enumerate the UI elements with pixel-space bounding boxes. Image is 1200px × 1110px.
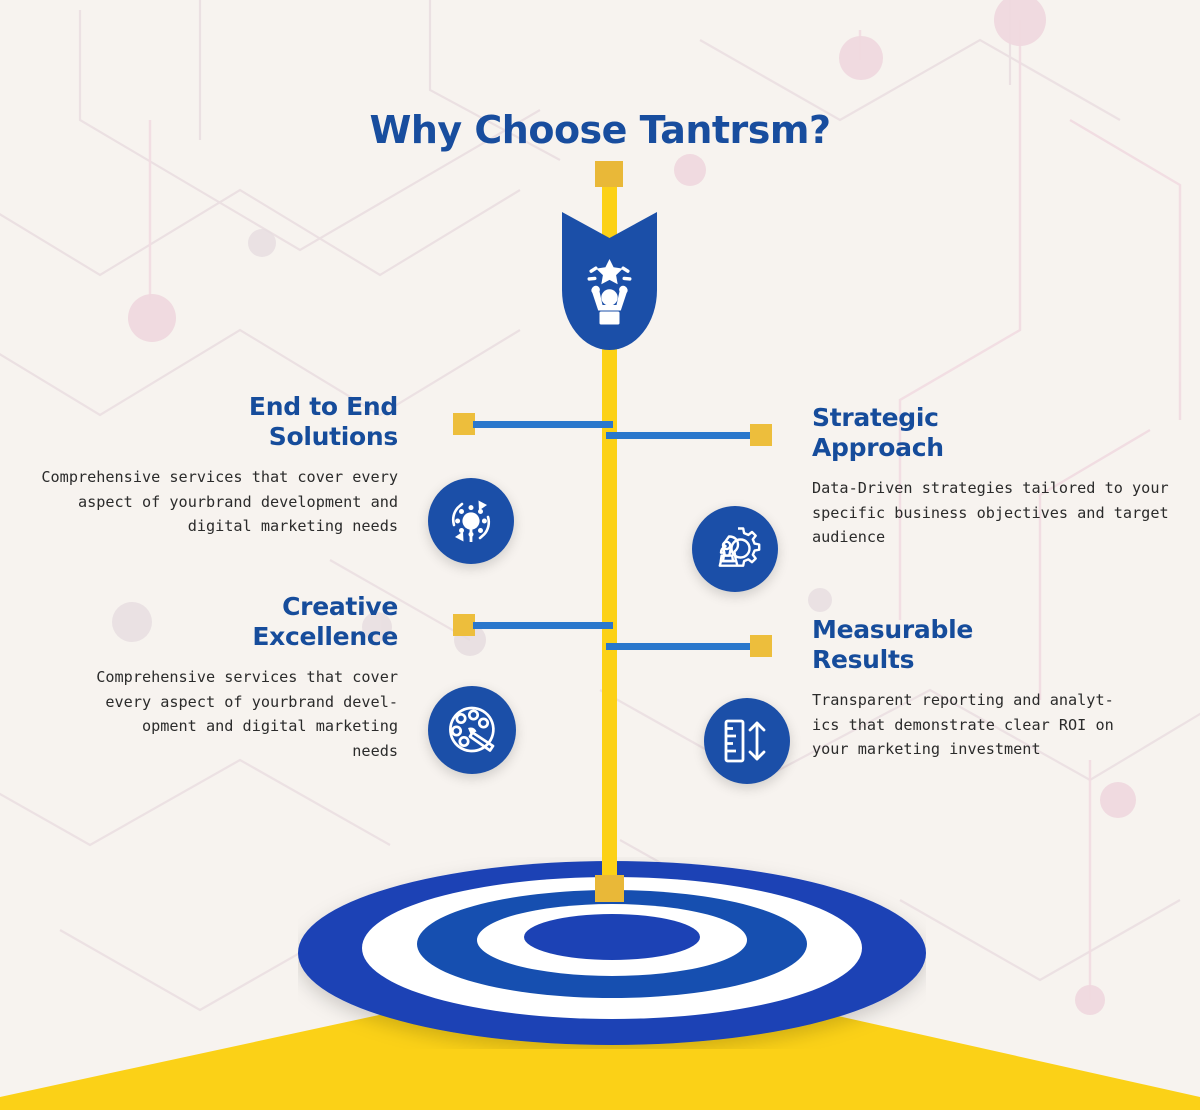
connector-creative	[453, 614, 613, 638]
connector-measurable	[606, 635, 772, 659]
feature-body-strategic: Data-Driven strategies tailored to your …	[812, 476, 1172, 550]
feature-title-measurable: Measurable Results	[812, 615, 1168, 674]
feature-title-strategic: Strategic Approach	[812, 403, 1172, 462]
achievement-person-star-banner-icon	[562, 212, 657, 350]
feature-title-creative: Creative Excellence	[40, 592, 398, 651]
pole-bottom-cap	[595, 875, 624, 902]
feature-end-to-end: End to End Solutions Comprehensive servi…	[10, 392, 398, 539]
connector-line	[606, 643, 753, 650]
palette-brush-icon	[428, 686, 516, 774]
gear-chess-strategy-icon	[692, 506, 778, 592]
infographic-canvas: Why Choose Tantrsm? End to End Solutions…	[0, 0, 1200, 1110]
connector-strategic	[606, 424, 772, 448]
connector-line	[473, 421, 613, 428]
connector-marker-square	[453, 614, 475, 636]
feature-strategic-approach: Strategic Approach Data-Driven strategie…	[812, 403, 1172, 550]
connector-line	[606, 432, 753, 439]
feature-body-creative: Comprehensive services that cover every …	[40, 665, 398, 764]
feature-body-end-to-end: Comprehensive services that cover every …	[10, 465, 398, 539]
connector-line	[473, 622, 613, 629]
feature-creative-excellence: Creative Excellence Comprehensive servic…	[40, 592, 398, 764]
lifecycle-arrows-icon	[428, 478, 514, 564]
pole-top-cap	[595, 161, 623, 187]
connector-marker-square	[453, 413, 475, 435]
connector-marker-square	[750, 424, 772, 446]
feature-title-end-to-end: End to End Solutions	[10, 392, 398, 451]
ruler-arrow-measure-icon	[704, 698, 790, 784]
page-title: Why Choose Tantrsm?	[0, 108, 1200, 152]
feature-body-measurable: Transparent reporting and analyt- ics th…	[812, 688, 1168, 762]
connector-marker-square	[750, 635, 772, 657]
connector-end-to-end	[453, 413, 613, 437]
feature-measurable-results: Measurable Results Transparent reporting…	[812, 615, 1168, 762]
